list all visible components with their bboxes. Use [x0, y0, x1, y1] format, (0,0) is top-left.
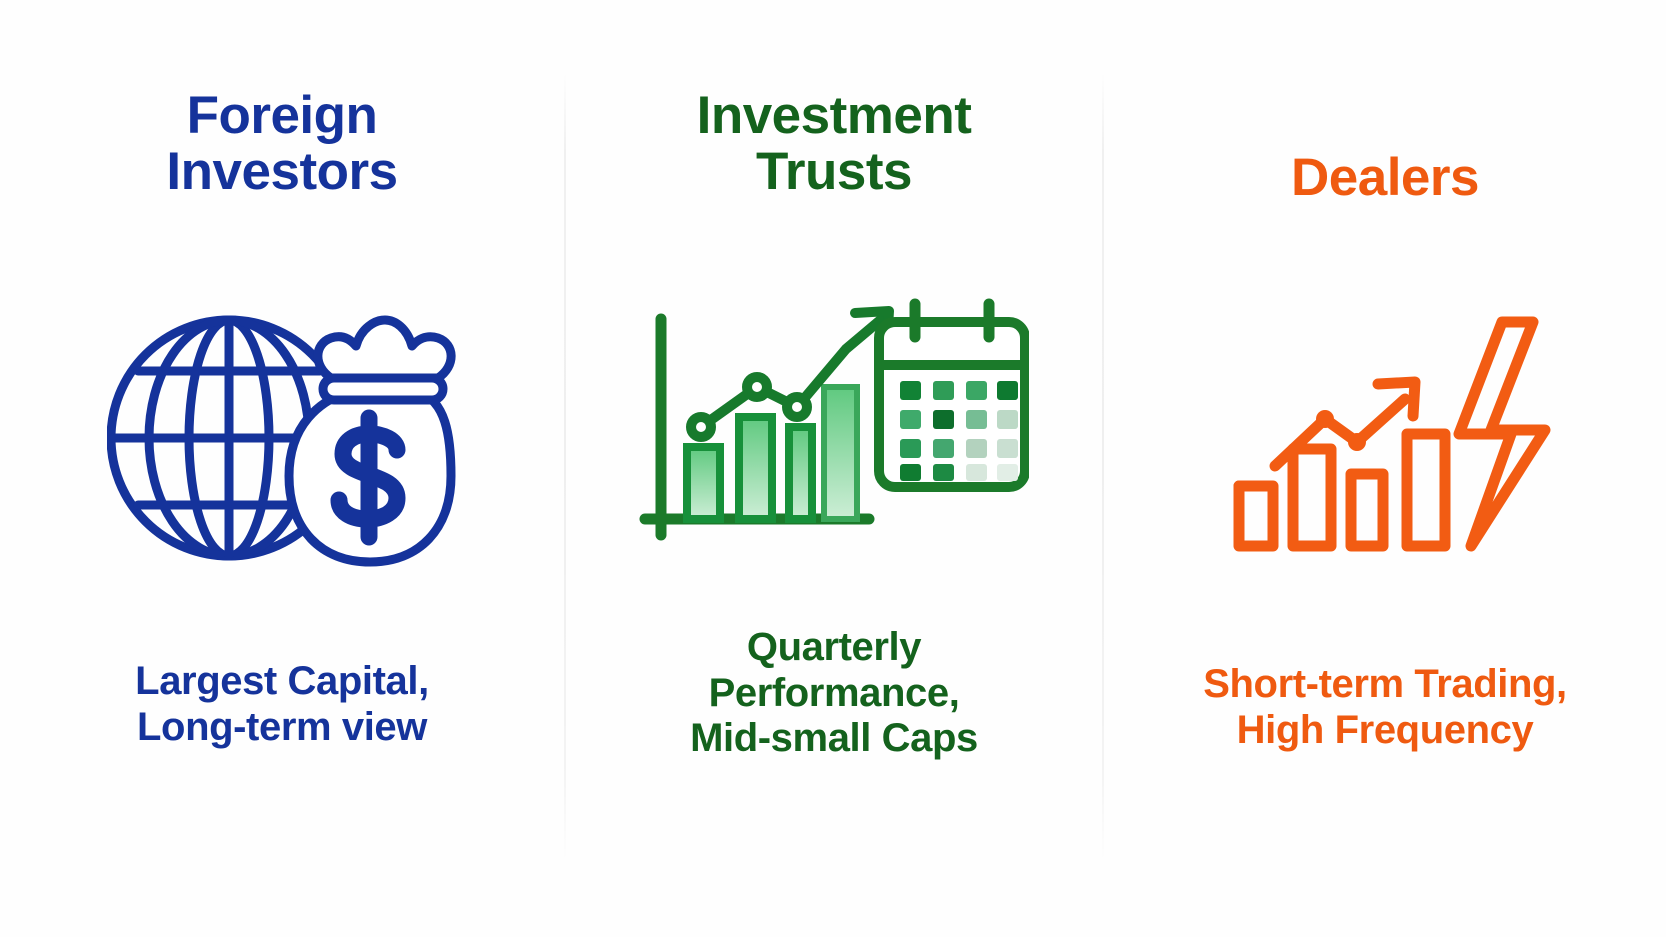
column-title-dealers: Dealers — [1104, 150, 1666, 206]
globe-money-bag-icon — [0, 283, 564, 588]
column-foreign-investors: Foreign Investors — [0, 0, 564, 937]
infographic-canvas: Foreign Investors — [0, 0, 1666, 937]
bar-chart-calendar-svg — [639, 287, 1029, 549]
bar-chart-calendar-icon — [566, 283, 1102, 553]
column-dealers: Dealers Sho — [1104, 0, 1666, 937]
bar-chart-lightning-svg — [1215, 294, 1555, 556]
column-caption-foreign-investors: Largest Capital, Long-term view — [0, 659, 564, 750]
column-caption-dealers: Short-term Trading, High Frequency — [1104, 662, 1666, 753]
column-title-investment-trusts: Investment Trusts — [566, 88, 1102, 200]
globe-money-bag-svg — [107, 286, 457, 586]
column-title-foreign-investors: Foreign Investors — [0, 88, 564, 200]
column-investment-trusts: Investment Trusts — [566, 0, 1102, 937]
bar-chart-lightning-icon — [1104, 290, 1666, 560]
column-caption-investment-trusts: Quarterly Performance, Mid-small Caps — [566, 625, 1102, 762]
